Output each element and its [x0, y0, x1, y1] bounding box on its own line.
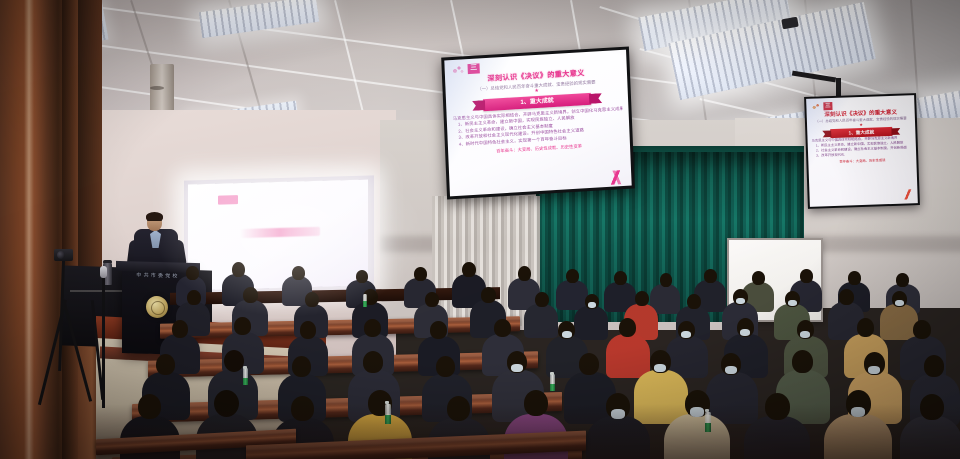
audience-head [292, 266, 305, 280]
face-mask [725, 366, 737, 374]
audience-head [752, 271, 765, 285]
audience-head [848, 271, 861, 285]
slide-footer: 百年奋斗：大变局、历史性成就 [812, 158, 912, 166]
face-mask [788, 300, 797, 306]
audience-person [664, 414, 730, 459]
face-mask [511, 364, 523, 372]
audience-head [462, 262, 476, 277]
face-mask [895, 300, 904, 306]
secondary-display-panel[interactable]: 三 深刻认识《决议》的重大意义 （一）总结党和人民百年奋斗重大成就、宝贵经验的现… [804, 93, 920, 209]
audience-head [660, 273, 672, 287]
audience-person [524, 304, 558, 338]
audience-head [800, 269, 813, 283]
audience-head [234, 317, 251, 335]
slide-section-badge: 三 [823, 102, 832, 110]
audience-person [900, 416, 960, 459]
audience-head [524, 390, 548, 416]
audience-person [586, 416, 650, 459]
audience-head [635, 291, 649, 306]
speaker-hair [146, 212, 163, 221]
audience-head [579, 353, 599, 375]
audience-head [566, 269, 579, 283]
audience-person [744, 416, 810, 459]
door-panel [78, 0, 102, 300]
face-mask [588, 302, 596, 308]
audience-head [857, 318, 874, 337]
face-mask [800, 331, 810, 338]
audience-head [619, 318, 636, 337]
audience-hair [214, 390, 239, 417]
audience-head [363, 351, 383, 373]
audience-head [481, 287, 496, 303]
face-mask [562, 331, 572, 338]
audience-head [232, 262, 245, 277]
audience-head [156, 354, 175, 375]
audience-head [243, 287, 258, 303]
slide-section-badge: 三 [467, 63, 479, 74]
face-mask [654, 364, 666, 372]
audience-head [920, 394, 944, 420]
audience-head [356, 270, 368, 283]
bottle-label [385, 415, 391, 424]
screen-banner-ghost [240, 227, 320, 238]
secondary-display-screen: 三 深刻认识《决议》的重大意义 （一）总结党和人民百年奋斗重大成就、宝贵经验的现… [806, 95, 918, 207]
face-mask [740, 329, 750, 336]
bench-row [148, 351, 538, 378]
screen-badge-ghost [218, 195, 238, 205]
audience-head [687, 294, 701, 309]
audience-head [291, 396, 314, 421]
audience-head [430, 321, 447, 339]
audience-head [172, 320, 188, 338]
slide-logo-icon [602, 170, 629, 186]
slide-body: 马克思主义与中国具体实际相结合，开辟马克思主义新境界 1、新民主主义革命，建立新… [812, 136, 913, 159]
bottle-label [550, 384, 555, 391]
audience-head [447, 396, 470, 421]
audience-head [305, 292, 319, 307]
face-mask [611, 409, 625, 419]
bottle-cap [705, 409, 709, 412]
slide-flourish-icon [450, 64, 464, 75]
audience-head [300, 321, 316, 339]
slide-logo-icon [899, 189, 915, 200]
slide-flourish-icon [810, 102, 821, 110]
bottle-label [705, 423, 711, 432]
face-mask [868, 366, 880, 374]
audience-head [425, 292, 439, 307]
face-mask [690, 407, 704, 417]
bench-row [160, 316, 520, 339]
conference-hall-photo: 三 深刻认识《决议》的重大意义 （一）总结党和人民百年奋斗重大成就、宝贵经验的现… [0, 0, 960, 459]
main-display-panel[interactable]: 三 深刻认识《决议》的重大意义 （一）总结党和人民百年奋斗重大成就、宝贵经验的现… [441, 46, 635, 199]
audience-head [364, 319, 381, 337]
audience-seating-area [0, 258, 960, 459]
audience-head [896, 273, 909, 287]
audience-hair [224, 350, 244, 372]
audience-person [880, 304, 918, 340]
audience-head [704, 269, 717, 283]
bottle-cap [243, 366, 247, 369]
audience-head [924, 355, 944, 377]
audience-head [186, 266, 199, 280]
audience-person [606, 334, 650, 378]
audience-head [138, 394, 161, 419]
face-mask [736, 298, 745, 304]
audience-head [292, 356, 311, 377]
face-mask [681, 331, 691, 338]
audience-head [436, 356, 455, 377]
main-display-screen: 三 深刻认识《决议》的重大意义 （一）总结党和人民百年奋斗重大成就、宝贵经验的现… [444, 50, 631, 197]
bottle-label [243, 378, 248, 385]
bottle-cap [385, 401, 389, 404]
audience-head [535, 292, 549, 307]
audience-person [574, 306, 608, 340]
audience-head [494, 319, 511, 337]
audience-head [792, 350, 813, 373]
audience-head [187, 290, 201, 305]
audience-head [414, 267, 427, 281]
face-mask [851, 407, 865, 417]
audience-head [614, 271, 627, 285]
bottle-cap [550, 372, 554, 375]
bottle-label [363, 301, 367, 307]
smoke-detector-icon [150, 86, 164, 90]
bench-row [170, 287, 500, 305]
audience-head [913, 320, 931, 339]
audience-person [556, 280, 588, 310]
audience-head [518, 266, 531, 281]
audience-head [839, 289, 854, 305]
audience-person [824, 414, 892, 459]
audience-head [765, 393, 790, 420]
